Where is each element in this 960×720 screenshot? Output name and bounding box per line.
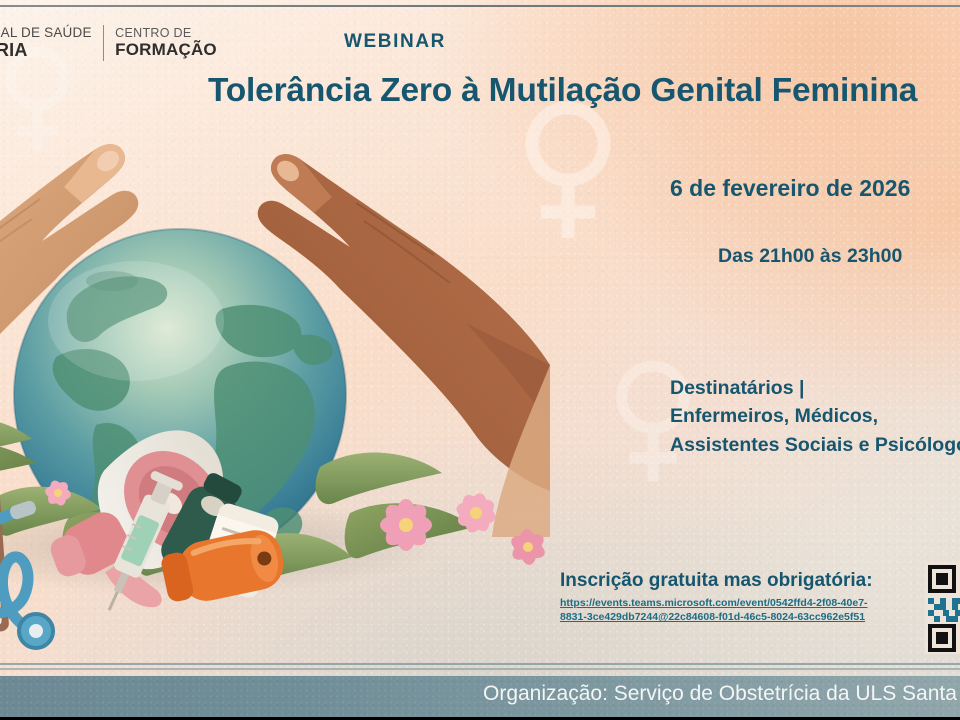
event-time: Das 21h00 às 23h00 [718, 245, 902, 268]
top-hairline-rule [0, 5, 960, 7]
logo-department: CENTRO DE FORMAÇÃO [115, 27, 217, 59]
footer-organization-text: Organização: Serviço de Obstetrícia da U… [483, 682, 960, 706]
audience-line-2: Assistentes Sociais e Psicólogos [670, 431, 960, 459]
audience-label: Destinatários | [670, 374, 960, 402]
audience-line-1: Enfermeiros, Médicos, [670, 402, 960, 430]
page-title: Tolerância Zero à Mutilação Genital Femi… [208, 72, 917, 110]
hands-globe-illustration [0, 95, 550, 655]
registration-url-line-2[interactable]: 8831-3ce429db7244@22c84608-f01d-46c5-802… [560, 610, 873, 624]
webinar-eyebrow-label: WEBINAR [344, 31, 446, 53]
event-date: 6 de fevereiro de 2026 [670, 175, 910, 202]
footer-rule-upper [0, 663, 960, 665]
logo-divider [103, 25, 105, 61]
logo-dept-line-2: FORMAÇÃO [115, 41, 217, 59]
qr-code[interactable] [925, 562, 960, 654]
registration-block: Inscrição gratuita mas obrigatória: http… [560, 570, 873, 624]
registration-url-line-1[interactable]: https://events.teams.microsoft.com/event… [560, 596, 873, 610]
event-audience: Destinatários | Enfermeiros, Médicos, As… [670, 374, 960, 459]
poster-canvas: ADE LOCAL DE SAÚDE TA MARIA CENTRO DE FO… [0, 0, 960, 720]
logo-line-2: TA MARIA [0, 41, 92, 60]
institution-logo: ADE LOCAL DE SAÚDE TA MARIA CENTRO DE FO… [0, 20, 240, 66]
registration-heading: Inscrição gratuita mas obrigatória: [560, 570, 873, 592]
registration-link[interactable]: https://events.teams.microsoft.com/event… [560, 596, 873, 624]
logo-institution-name: ADE LOCAL DE SAÚDE TA MARIA [0, 26, 92, 60]
logo-line-1: ADE LOCAL DE SAÚDE [0, 26, 92, 41]
footer-rule-lower [0, 668, 960, 670]
logo-dept-line-1: CENTRO DE [115, 27, 217, 41]
